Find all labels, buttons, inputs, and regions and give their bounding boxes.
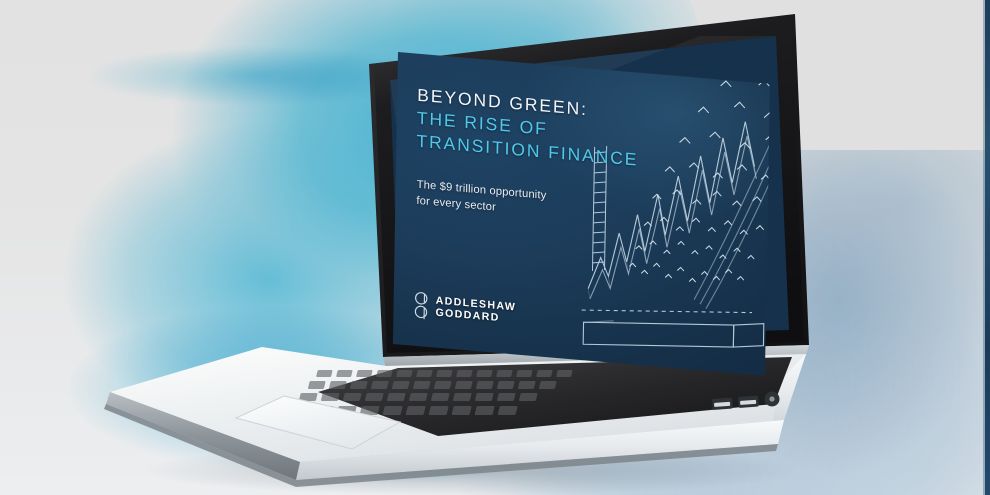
right-edge-strip — [985, 0, 990, 495]
scene-canvas: BEYOND GREEN: THE RISE OF TRANSITION FIN… — [0, 0, 990, 495]
laptop-device — [0, 0, 990, 495]
